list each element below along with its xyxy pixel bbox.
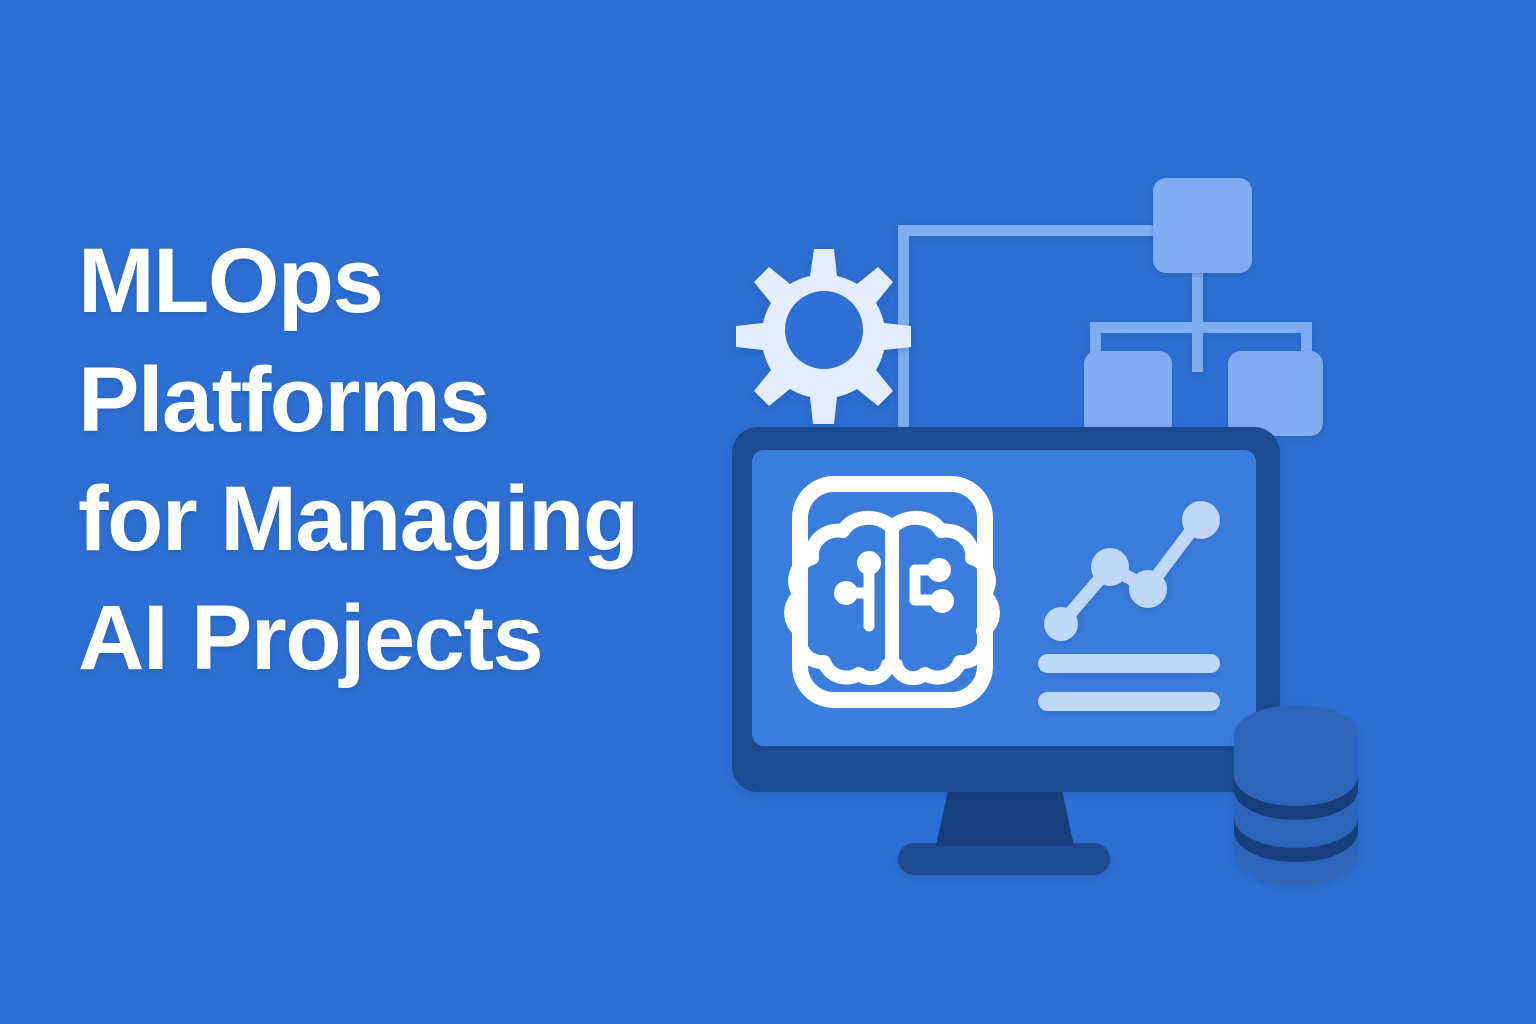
- chart-point-2: [1091, 548, 1129, 586]
- database-icon: [1234, 705, 1358, 885]
- progress-bars-icon: [1038, 654, 1220, 711]
- chart-point-1: [1044, 607, 1078, 641]
- title-line-4: AI Projects: [78, 579, 778, 698]
- metric-bar-2: [1038, 692, 1220, 711]
- page-title: MLOps Platforms for Managing AI Projects: [78, 222, 778, 698]
- db-band-1: [1234, 776, 1358, 820]
- flowchart-nodes: [1084, 178, 1323, 436]
- monitor-screen: [752, 450, 1256, 746]
- db-band-2: [1234, 818, 1358, 862]
- monitor-stand: [936, 790, 1074, 846]
- brain-nodes: [834, 551, 954, 613]
- chart-point-4: [1182, 501, 1220, 539]
- line-chart-icon: [1044, 501, 1220, 641]
- title-line-1: MLOps: [78, 222, 778, 341]
- line-chart-points: [1044, 501, 1220, 641]
- metric-bar-1: [1038, 654, 1220, 673]
- monitor-bezel: [732, 427, 1280, 792]
- chart-point-3: [1129, 570, 1167, 608]
- brain-icon: [791, 484, 993, 700]
- title-line-2: Platforms: [78, 341, 778, 460]
- flow-node-right: [1228, 351, 1323, 436]
- poster-canvas: MLOps Platforms for Managing AI Projects: [0, 0, 1536, 1024]
- flowchart-connectors: [898, 225, 1312, 440]
- monitor-base: [898, 843, 1110, 875]
- monitor-icon: [732, 427, 1280, 875]
- flow-node-top: [1153, 178, 1252, 273]
- flow-node-left: [1084, 351, 1172, 436]
- title-line-3: for Managing: [78, 460, 778, 579]
